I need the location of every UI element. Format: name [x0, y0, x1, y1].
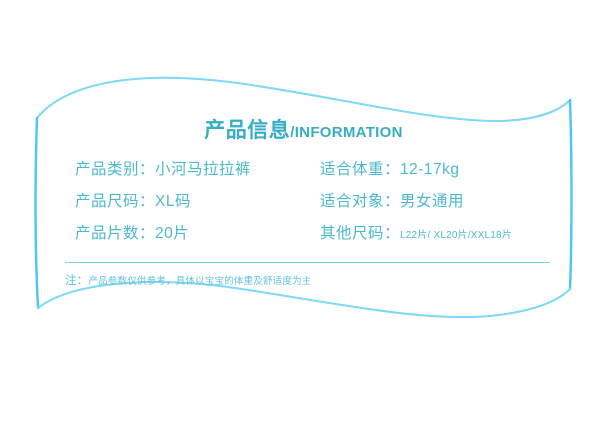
spec-item-other-sizes: 其他尺码：L22片/ XL20片/XXL18片	[320, 226, 542, 242]
spec-value: XL码	[155, 193, 191, 210]
footnote-prefix: 注：	[65, 275, 88, 287]
page-title: 产品信息/INFORMATION	[37, 114, 570, 144]
spec-label: 适合体重：	[320, 161, 400, 178]
spec-label: 适合对象：	[320, 193, 400, 210]
product-info-banner: 产品信息/INFORMATION 产品类别：小河马拉拉裤 适合体重：12-17k…	[0, 0, 600, 424]
spec-table: 产品类别：小河马拉拉裤 适合体重：12-17kg 产品尺码：XL码 适合对象：男…	[37, 162, 570, 242]
page-title-en: /INFORMATION	[290, 124, 402, 141]
spec-label: 产品尺码：	[75, 193, 155, 210]
spec-label: 产品类别：	[75, 161, 155, 178]
spec-item-suitable-weight: 适合体重：12-17kg	[320, 162, 542, 178]
spec-item-piece-count: 产品片数：20片	[75, 226, 320, 242]
spec-label: 产品片数：	[75, 225, 155, 242]
page-title-cn: 产品信息	[204, 119, 290, 142]
spec-item-suitable-gender: 适合对象：男女通用	[320, 194, 542, 210]
card-content: 产品信息/INFORMATION 产品类别：小河马拉拉裤 适合体重：12-17k…	[37, 100, 570, 288]
spec-value: 小河马拉拉裤	[155, 161, 251, 178]
spec-item-product-size: 产品尺码：XL码	[75, 194, 320, 210]
spec-value: 20片	[155, 225, 189, 242]
spec-item-product-category: 产品类别：小河马拉拉裤	[75, 162, 320, 178]
footnote-text: 产品参数仅供参考，具体以宝宝的体重及舒适度为主	[88, 276, 311, 287]
right-border-line	[570, 100, 572, 289]
spec-value: 12-17kg	[400, 161, 460, 178]
footnote: 注：产品参数仅供参考，具体以宝宝的体重及舒适度为主	[65, 272, 570, 288]
spec-label: 其他尺码：	[320, 225, 400, 242]
note-divider	[65, 262, 550, 263]
spec-value: 男女通用	[400, 193, 464, 210]
spec-value: L22片/ XL20片/XXL18片	[400, 230, 512, 241]
